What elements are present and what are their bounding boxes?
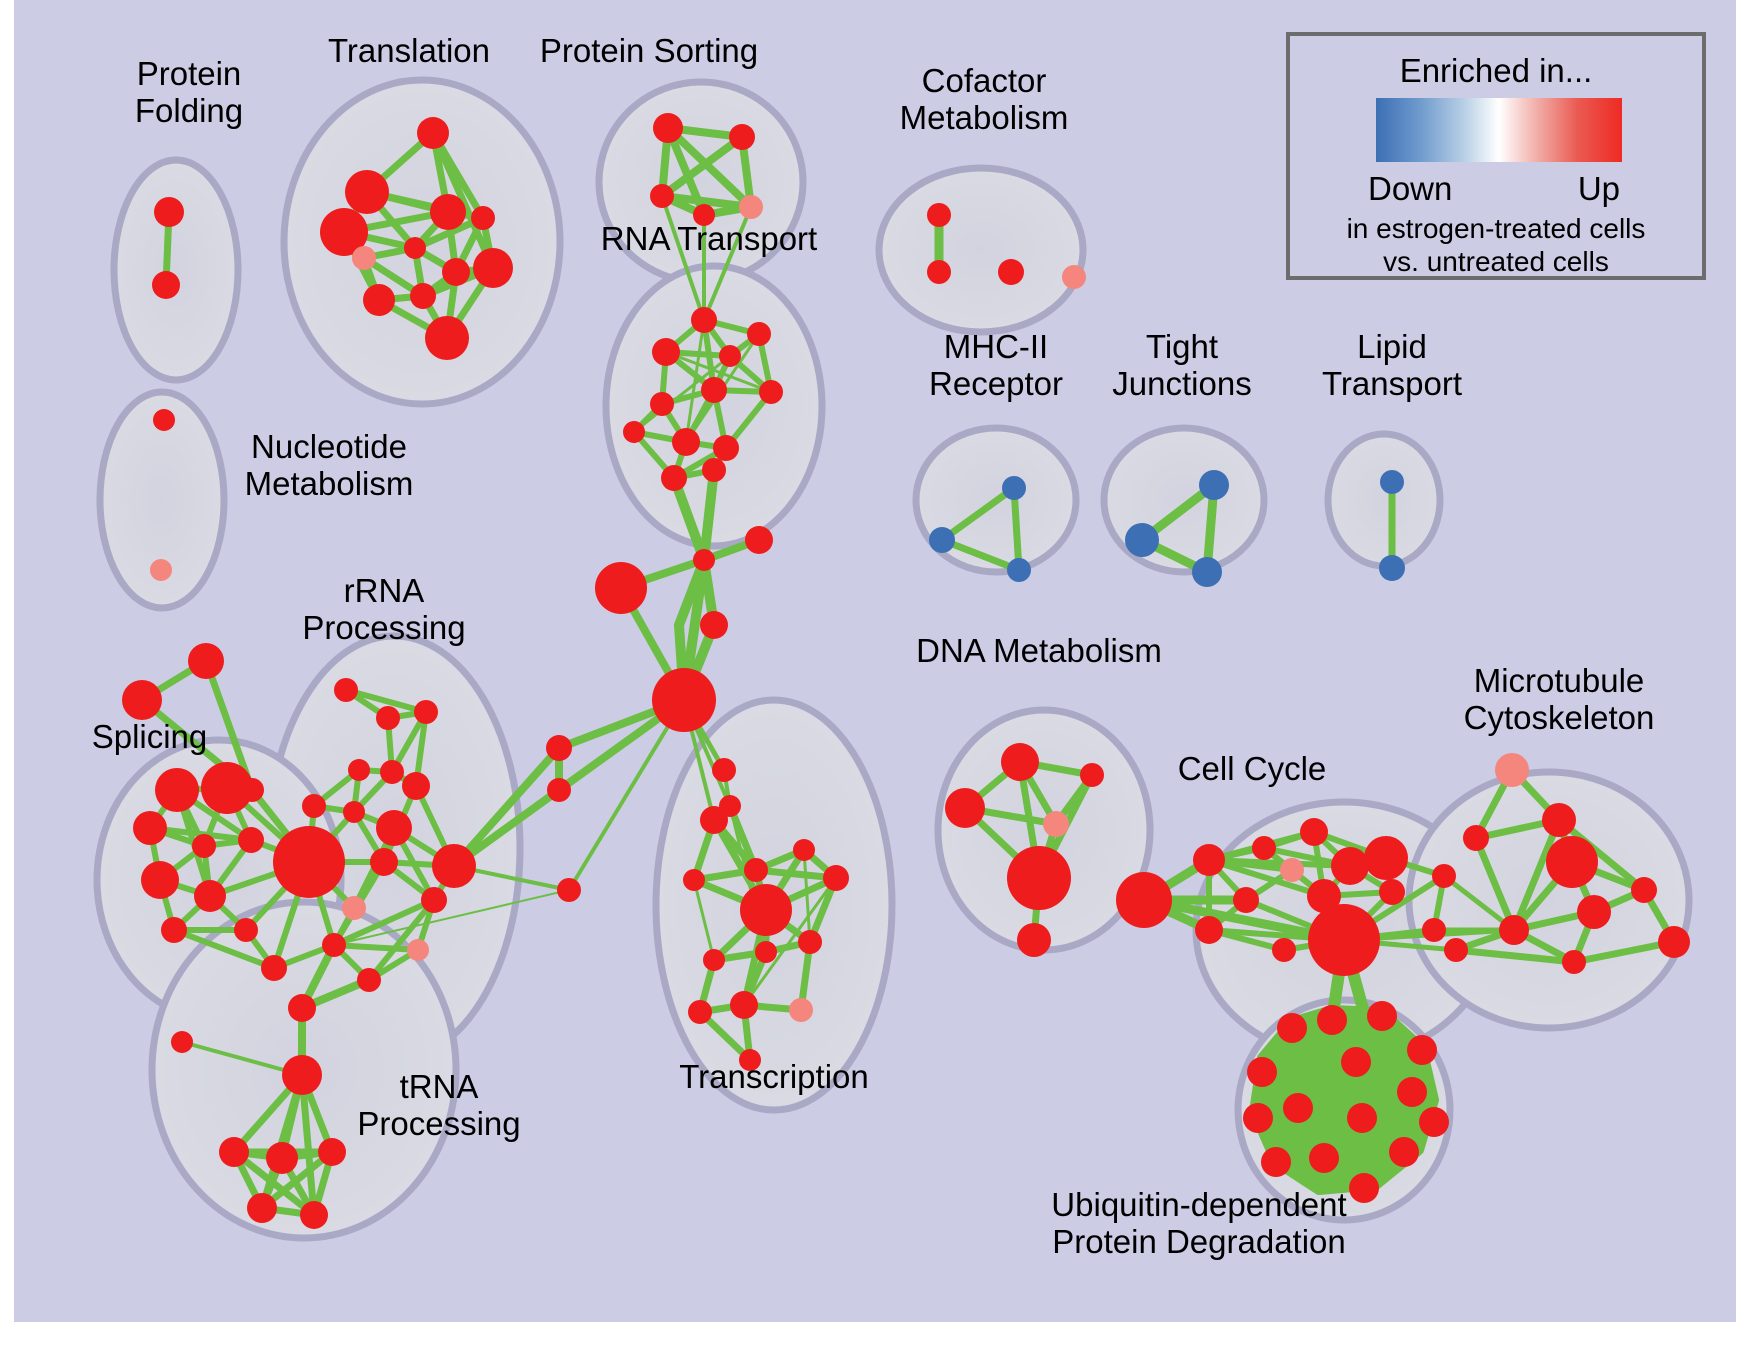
legend-title: Enriched in... [1290, 52, 1702, 90]
hull-protein-sorting [599, 82, 803, 282]
legend-subtitle: in estrogen-treated cells vs. untreated … [1290, 212, 1702, 278]
legend-high-label: Up [1578, 170, 1620, 208]
hull-tight [1104, 428, 1264, 572]
hull-cofactor [879, 168, 1083, 332]
figure-stage: Protein Folding Translation Protein Sort… [0, 0, 1750, 1360]
legend-panel: Enriched in... Down Up in estrogen-treat… [1286, 32, 1706, 280]
hull-protein-folding [114, 160, 238, 380]
network-canvas: Protein Folding Translation Protein Sort… [14, 0, 1736, 1322]
color-scale-bar [1376, 98, 1622, 162]
legend-low-label: Down [1368, 170, 1452, 208]
hull-lipid [1328, 434, 1440, 566]
hull-dna-metabolism [938, 710, 1150, 950]
